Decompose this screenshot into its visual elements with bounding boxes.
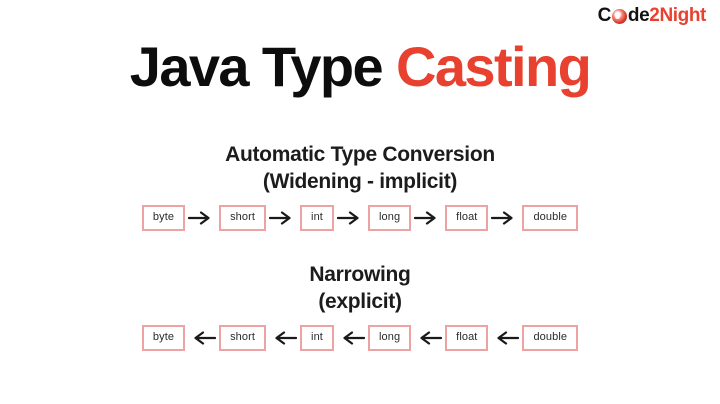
type-box-int: int [300, 325, 334, 351]
arrow-right-icon [185, 211, 219, 225]
arrow-right-icon [334, 211, 368, 225]
arrow-right-icon [411, 211, 445, 225]
moon-logo-icon [612, 9, 627, 24]
arrow-left-icon [488, 331, 522, 345]
brand-text-prefix: C [598, 6, 611, 25]
narrowing-heading: Narrowing [0, 262, 720, 289]
section-heading-narrowing: Narrowing (explicit) [0, 262, 720, 316]
type-box-double: double [522, 325, 578, 351]
type-box-float: float [445, 325, 488, 351]
arrow-right-icon [488, 211, 522, 225]
widening-type-chain: byte short int long float double [0, 205, 720, 231]
arrow-left-icon [266, 331, 300, 345]
arrow-left-icon [334, 331, 368, 345]
arrow-left-icon [185, 331, 219, 345]
type-box-short: short [219, 205, 266, 231]
arrow-right-icon [266, 211, 300, 225]
narrowing-subheading: (explicit) [0, 289, 720, 316]
type-box-byte: byte [142, 205, 185, 231]
page-title-primary: Java Type [130, 35, 396, 98]
type-box-long: long [368, 325, 411, 351]
type-box-long: long [368, 205, 411, 231]
type-box-int: int [300, 205, 334, 231]
type-box-byte: byte [142, 325, 185, 351]
page-title-accent: Casting [396, 35, 590, 98]
brand-logo: C de 2Night [598, 6, 706, 25]
type-box-short: short [219, 325, 266, 351]
widening-heading: Automatic Type Conversion [0, 142, 720, 169]
widening-subheading: (Widening - implicit) [0, 169, 720, 196]
arrow-left-icon [411, 331, 445, 345]
type-box-float: float [445, 205, 488, 231]
type-box-double: double [522, 205, 578, 231]
brand-text-accent: 2Night [649, 6, 706, 25]
section-heading-widening: Automatic Type Conversion (Widening - im… [0, 142, 720, 196]
brand-text-middle: de [628, 6, 649, 25]
page-title: Java Type Casting [0, 38, 720, 97]
narrowing-type-chain: byte short int long float double [0, 325, 720, 351]
